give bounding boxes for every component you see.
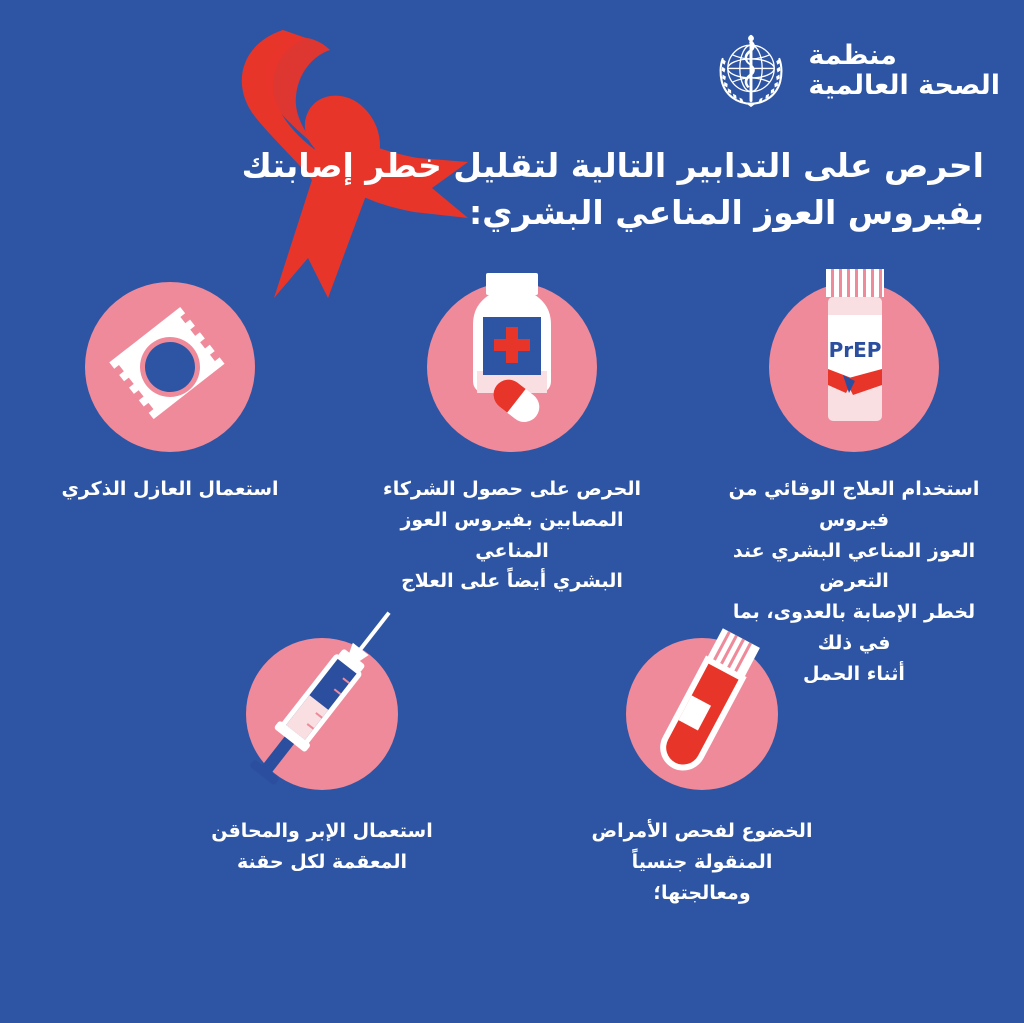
measure-card-sti-screening: الخضوع لفحص الأمراض المنقولة جنسياً ومعا…	[557, 638, 847, 908]
caption-line: البشري أيضاً على العلاج	[372, 566, 652, 597]
caption-line: استخدام العلاج الوقائي من فيروس	[714, 474, 994, 536]
measure-caption-condom: استعمال العازل الذكري	[30, 474, 310, 505]
pill-bottle-icon	[427, 267, 597, 467]
measure-caption-partner-treatment: الحرص على حصول الشركاء المصابين بفيروس ا…	[372, 474, 652, 597]
caption-line: الخضوع لفحص الأمراض	[562, 816, 842, 847]
measures-row-top: استعمال العازل الذكري الحرص	[0, 282, 1024, 689]
measure-caption-sti-screening: الخضوع لفحص الأمراض المنقولة جنسياً ومعا…	[562, 816, 842, 908]
measures-row-bottom: استعمال الإبر والمحاقن المعقمة لكل حقنة	[0, 638, 1024, 908]
headline-line-1: احرص على التدابير التالية لتقليل خطر إصا…	[150, 143, 984, 190]
caption-line: العوز المناعي البشري عند التعرض	[714, 536, 994, 598]
who-wordmark-line1: منظمة	[808, 41, 897, 71]
caption-line: المعقمة لكل حقنة	[182, 847, 462, 878]
condom-badge	[85, 282, 255, 452]
caption-line: ومعالجتها؛	[562, 878, 842, 909]
pill-bottle-badge	[427, 282, 597, 452]
who-wordmark-line2: الصحة العالمية	[808, 71, 1000, 101]
syringe-badge	[246, 638, 398, 790]
caption-line: المنقولة جنسياً	[562, 847, 842, 878]
prep-bottle-icon: PrEP	[769, 267, 939, 467]
caption-line: الحرص على حصول الشركاء	[372, 474, 652, 505]
blood-tube-badge	[626, 638, 778, 790]
caption-line: المصابين بفيروس العوز المناعي	[372, 505, 652, 567]
page-title: احرص على التدابير التالية لتقليل خطر إصا…	[150, 143, 984, 237]
caption-line: استعمال العازل الذكري	[30, 474, 310, 505]
measure-card-sterile-needles: استعمال الإبر والمحاقن المعقمة لكل حقنة	[177, 638, 467, 908]
infographic-poster: منظمة الصحة العالمية	[0, 0, 1024, 1023]
who-wordmark: منظمة الصحة العالمية	[808, 41, 1000, 101]
prep-label-text: PrEP	[829, 338, 882, 362]
caption-line: استعمال الإبر والمحاقن	[182, 816, 462, 847]
who-emblem-icon	[708, 28, 794, 114]
blood-test-tube-icon	[626, 624, 778, 804]
measure-card-partner-treatment: الحرص على حصول الشركاء المصابين بفيروس ا…	[367, 282, 657, 689]
headline-line-2: بفيروس العوز المناعي البشري:	[150, 190, 984, 237]
syringe-icon	[246, 619, 398, 809]
measure-caption-sterile-needles: استعمال الإبر والمحاقن المعقمة لكل حقنة	[182, 816, 462, 878]
who-logo: منظمة الصحة العالمية	[708, 28, 1000, 114]
condom-packet-icon	[85, 282, 255, 452]
prep-bottle-badge: PrEP	[769, 282, 939, 452]
